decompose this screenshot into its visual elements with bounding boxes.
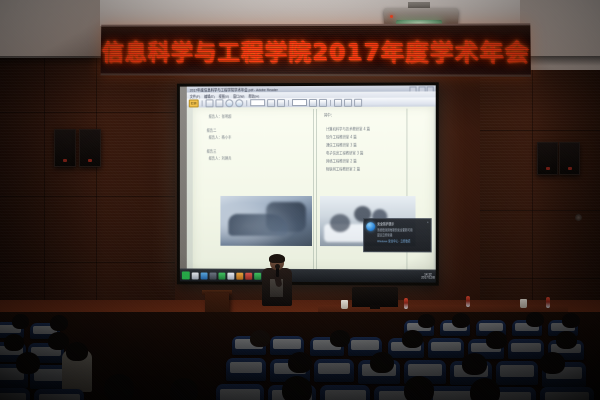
taskbar-item-explorer[interactable]: [192, 272, 199, 279]
audience-head: [104, 374, 134, 400]
photo-right-person-1: [330, 214, 350, 232]
toolbar-separator: [202, 100, 203, 106]
audience-head: [470, 378, 500, 400]
document-page: 报告人：张明超 报告二 报告人：杨小丰 报告三 报告人：刘建兵 其中： 计算机科…: [193, 107, 434, 271]
shield-icon: [366, 222, 375, 231]
taskbar[interactable]: 14:32 2017/12/8: [180, 268, 436, 282]
column-rule-1: [313, 109, 314, 270]
start-button[interactable]: [182, 271, 190, 279]
toolbar-separator-2: [246, 100, 247, 106]
audience-head: [404, 376, 434, 400]
open-file-button[interactable]: 打开: [189, 99, 199, 107]
snapshot-icon[interactable]: [344, 98, 352, 106]
column-rule-2: [316, 109, 317, 270]
auditorium-photo: 信息科学与工程学院2017年度学术年会 2017年度信息科学与工程学院学术年会.…: [0, 0, 600, 400]
wall-speaker-left-2: [79, 129, 101, 167]
doc-right-header: 其中：: [324, 111, 334, 117]
notification-body: 安全防护提示 系统检测到有新的安全更新可用 建议立即安装 Windows 安全中…: [377, 221, 428, 249]
audience-head: [556, 331, 577, 349]
email-icon[interactable]: [215, 99, 223, 107]
seat: [226, 358, 266, 381]
page-down-icon[interactable]: [277, 99, 285, 107]
select-tool-icon[interactable]: [334, 98, 342, 106]
open-file-label: 打开: [191, 101, 197, 105]
doc-left-line-3: 报告人：杨小丰: [209, 134, 232, 140]
seat: [320, 385, 370, 400]
stage-monitor: [352, 287, 398, 307]
led-banner-text: 信息科学与工程学院2017年度学术年会: [102, 33, 530, 68]
taskbar-item-browser[interactable]: [201, 272, 208, 279]
notification-close-icon[interactable]: ×: [427, 220, 429, 224]
water-bottle-1: [404, 298, 408, 309]
audience-head: [462, 353, 487, 375]
slide-photo-left: [220, 196, 312, 246]
zoom-level-field[interactable]: [292, 99, 307, 106]
fit-width-icon[interactable]: [319, 98, 327, 106]
document-viewport[interactable]: 报告人：张明超 报告二 报告人：杨小丰 报告三 报告人：刘建兵 其中： 计算机科…: [187, 107, 436, 271]
tea-cup-2: [520, 299, 527, 308]
audience-head: [170, 378, 198, 400]
doc-right-line-2: 软件工程教研室 4 篇: [326, 133, 357, 139]
tea-cup-1: [341, 300, 348, 309]
audience-head: [250, 330, 270, 347]
audience-head: [12, 314, 29, 329]
seat: [216, 384, 264, 400]
audience-head: [452, 313, 470, 328]
audience-head: [526, 312, 544, 327]
stage-monitor-stand: [370, 305, 380, 309]
presenter: [258, 255, 296, 313]
seat: [314, 359, 354, 382]
wall-fixture: [575, 214, 582, 221]
taskbar-item-reader[interactable]: [227, 272, 234, 279]
notification-toast[interactable]: 安全防护提示 系统检测到有新的安全更新可用 建议立即安装 Windows 安全中…: [363, 218, 432, 252]
seat: [428, 338, 464, 358]
seat: [0, 388, 30, 400]
water-bottle-3: [546, 297, 550, 308]
zoom-in-icon[interactable]: [235, 99, 243, 107]
taskbar-item-player[interactable]: [210, 272, 217, 279]
audience-head: [4, 334, 24, 351]
fit-page-icon[interactable]: [309, 98, 317, 106]
microphone-icon: [276, 267, 279, 277]
doc-right-line-3: 通信工程教研室 3 篇: [326, 141, 357, 147]
seat: [34, 389, 84, 400]
audience-head: [370, 352, 394, 373]
audience-head: [288, 352, 312, 373]
taskbar-item-messenger[interactable]: [245, 272, 252, 279]
doc-right-line-6: 物联网工程教研室 2 篇: [326, 165, 360, 171]
taskbar-clock[interactable]: 14:32 2017/12/8: [421, 273, 436, 280]
doc-left-line-5: 报告人：刘建兵: [209, 154, 232, 160]
audience-area: [0, 312, 600, 400]
zoom-out-icon[interactable]: [225, 99, 233, 107]
audience-head: [330, 330, 350, 347]
taskbar-item-office[interactable]: [236, 272, 243, 279]
audience-head: [402, 330, 423, 348]
audience-head: [486, 331, 507, 349]
doc-right-line-5: 网络工程教研室 2 篇: [326, 157, 357, 163]
doc-left-line-4: 报告三: [207, 148, 217, 154]
audience-head: [418, 314, 435, 328]
notification-title: 安全防护提示: [377, 221, 428, 226]
water-bottle-2: [466, 296, 470, 307]
doc-right-line-4: 电子信息工程教研室 3 篇: [326, 149, 363, 155]
print-icon[interactable]: [206, 99, 214, 107]
notification-text-2: 建议立即安装: [377, 232, 428, 237]
desktop-edge-strip: [180, 87, 187, 282]
audience-head: [50, 315, 68, 331]
doc-left-line-1: 报告人：张明超: [209, 113, 232, 119]
wall-speaker-right-1: [537, 142, 558, 175]
doc-right-line-1: 计算机科学与技术教研室 4 篇: [326, 125, 370, 131]
projector-power-led: [390, 15, 393, 18]
audience-head: [66, 342, 88, 361]
page-up-icon[interactable]: [267, 99, 275, 107]
audience-head: [562, 313, 580, 328]
doc-left-line-2: 报告二: [207, 127, 217, 133]
audience-head: [540, 352, 565, 374]
seat: [508, 339, 544, 359]
toolbar-separator-4: [330, 99, 331, 105]
notification-link[interactable]: Windows 安全中心 · 立即查看: [377, 238, 428, 243]
taskbar-item-security[interactable]: [218, 272, 225, 279]
clock-date: 2017/12/8: [421, 276, 435, 280]
seat: [496, 361, 538, 385]
projected-desktop: 2017年度信息科学与工程学院学术年会.pdf - Adobe Reader 文…: [180, 85, 436, 282]
seat: [540, 387, 594, 400]
highlight-icon[interactable]: [354, 98, 362, 106]
presenter-hair: [269, 254, 285, 263]
page-number-field[interactable]: [250, 99, 265, 106]
audience-head: [16, 352, 40, 374]
wall-speaker-right-2: [559, 142, 580, 175]
wall-speaker-left-1: [54, 129, 76, 167]
notification-text: 系统检测到有新的安全更新可用: [377, 227, 428, 232]
audience-head: [282, 376, 312, 400]
toolbar-separator-3: [288, 100, 289, 106]
led-banner: 信息科学与工程学院2017年度学术年会: [101, 23, 531, 76]
projection-screen: 2017年度信息科学与工程学院学术年会.pdf - Adobe Reader 文…: [177, 82, 439, 285]
